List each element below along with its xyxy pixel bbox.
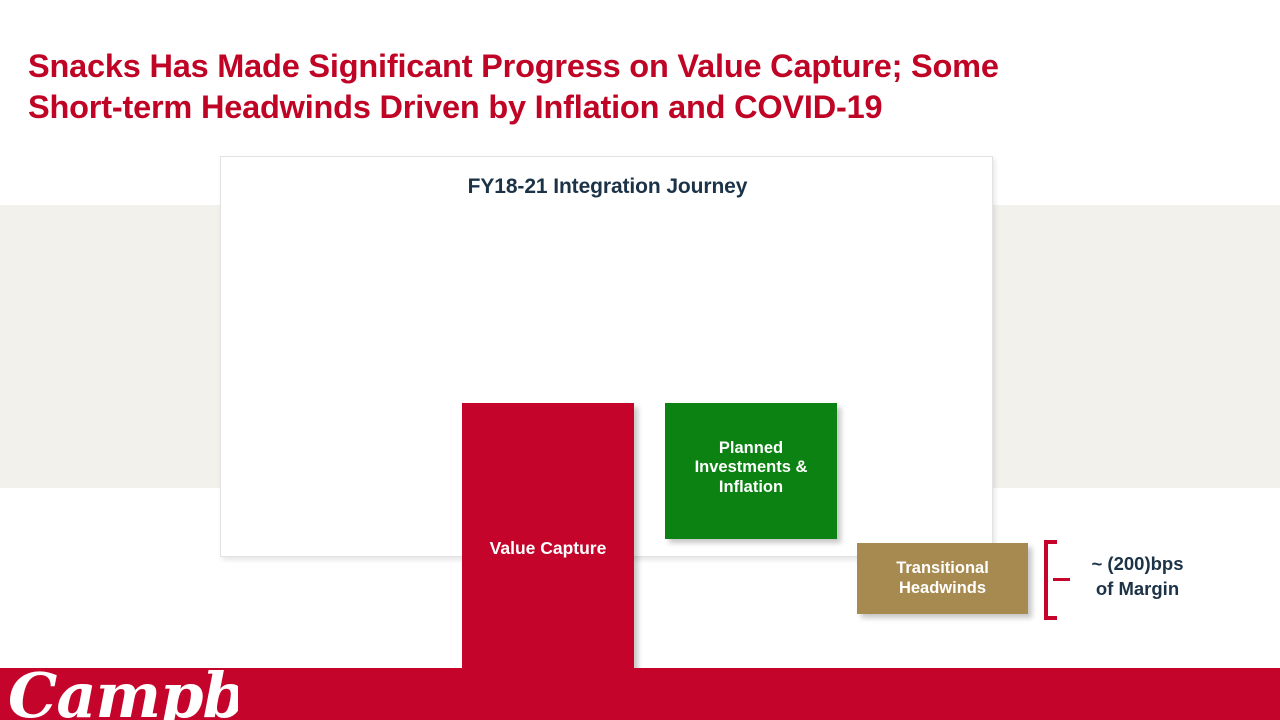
bar-headwinds-line-1: Transitional: [896, 559, 989, 577]
annotation-bracket-tick-icon: [1053, 578, 1070, 581]
bar-transitional-headwinds: Transitional Headwinds: [857, 543, 1028, 614]
bar-planned-line-3: Inflation: [719, 478, 783, 496]
bar-planned-line-2: Investments &: [695, 458, 808, 476]
page-title: Snacks Has Made Significant Progress on …: [28, 46, 1158, 128]
bar-planned-investments: Planned Investments & Inflation: [665, 403, 837, 539]
bar-headwinds-line-2: Headwinds: [899, 579, 986, 597]
chart-title: FY18-21 Integration Journey: [221, 175, 994, 199]
slide: Snacks Has Made Significant Progress on …: [0, 0, 1280, 720]
bar-transitional-headwinds-label: Transitional Headwinds: [857, 559, 1028, 598]
campbells-logo: Campbell's: [8, 664, 238, 720]
bar-value-capture: Value Capture: [462, 403, 634, 694]
annotation-margin-impact: ~ (200)bps of Margin: [1070, 551, 1205, 601]
bar-planned-investments-label: Planned Investments & Inflation: [665, 439, 837, 497]
bar-value-capture-label: Value Capture: [462, 538, 634, 559]
chart-card: FY18-21 Integration Journey Value Captur…: [220, 156, 993, 557]
annotation-line-2: of Margin: [1070, 576, 1205, 601]
page-title-line-1: Snacks Has Made Significant Progress on …: [28, 46, 1158, 87]
page-title-line-2: Short-term Headwinds Driven by Inflation…: [28, 87, 1158, 128]
annotation-line-1: ~ (200)bps: [1070, 551, 1205, 576]
bar-planned-line-1: Planned: [719, 439, 783, 457]
